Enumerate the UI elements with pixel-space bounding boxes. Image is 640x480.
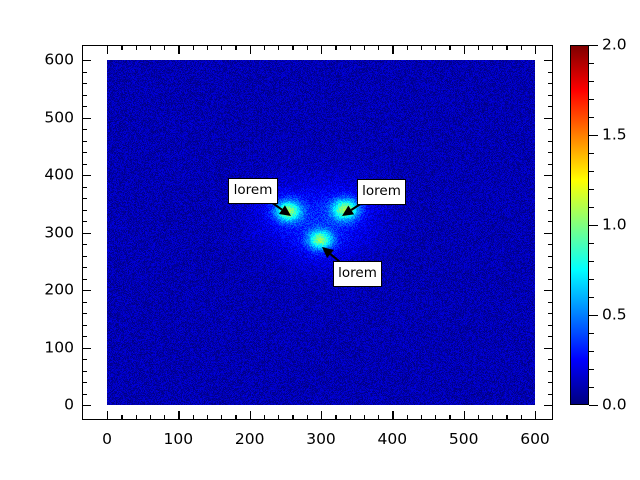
y-axis-minor-tick [548, 72, 553, 73]
x-axis-minor-tick [521, 45, 522, 50]
x-axis-tick-label: 600 [520, 432, 550, 448]
x-axis-minor-tick [478, 45, 479, 50]
y-axis-minor-tick [82, 267, 87, 268]
x-axis-minor-tick [193, 45, 194, 50]
annotation-label-3: lorem [333, 261, 382, 287]
y-axis-minor-tick [82, 210, 87, 211]
y-axis-minor-tick [548, 302, 553, 303]
y-axis-minor-tick [82, 152, 87, 153]
x-axis-major-tick [321, 411, 322, 420]
x-axis-major-tick [178, 45, 179, 54]
x-axis-minor-tick [264, 45, 265, 50]
x-axis-minor-tick [164, 45, 165, 50]
y-axis-minor-tick [548, 279, 553, 280]
x-axis-minor-tick [136, 415, 137, 420]
colorbar-minor-tick [589, 207, 594, 208]
y-axis-minor-tick [548, 106, 553, 107]
colorbar-minor-tick [589, 117, 594, 118]
y-axis-tick-label: 400 [16, 167, 74, 183]
x-axis-major-tick [250, 411, 251, 420]
x-axis-minor-tick [407, 415, 408, 420]
y-axis-minor-tick [548, 325, 553, 326]
colorbar [570, 45, 589, 405]
x-axis-minor-tick [364, 45, 365, 50]
x-axis-minor-tick [207, 45, 208, 50]
x-axis-minor-tick [121, 45, 122, 50]
colorbar-minor-tick [589, 189, 594, 190]
x-axis-minor-tick [506, 45, 507, 50]
y-axis-tick-label: 300 [16, 225, 74, 241]
x-axis-minor-tick [136, 45, 137, 50]
y-axis-minor-tick [82, 371, 87, 372]
x-axis-major-tick [107, 45, 108, 54]
x-axis-tick-label: 500 [449, 432, 479, 448]
x-axis-major-tick [535, 411, 536, 420]
x-axis-minor-tick [164, 415, 165, 420]
colorbar-major-tick [589, 225, 598, 226]
y-axis-minor-tick [82, 141, 87, 142]
colorbar-minor-tick [589, 261, 594, 262]
x-axis-minor-tick [235, 415, 236, 420]
y-axis-minor-tick [548, 83, 553, 84]
x-axis-minor-tick [307, 415, 308, 420]
colorbar-major-tick [589, 45, 598, 46]
x-axis-minor-tick [207, 415, 208, 420]
x-axis-minor-tick [492, 415, 493, 420]
x-axis-minor-tick [235, 45, 236, 50]
x-axis-minor-tick [421, 45, 422, 50]
y-axis-minor-tick [548, 164, 553, 165]
y-axis-minor-tick [82, 129, 87, 130]
y-axis-major-tick [544, 60, 553, 61]
y-axis-minor-tick [82, 198, 87, 199]
x-axis-minor-tick [150, 415, 151, 420]
x-axis-minor-tick [221, 45, 222, 50]
y-axis-minor-tick [82, 72, 87, 73]
y-axis-major-tick [82, 118, 91, 119]
x-axis-tick-label: 400 [378, 432, 408, 448]
colorbar-minor-tick [589, 99, 594, 100]
colorbar-minor-tick [589, 297, 594, 298]
y-axis-minor-tick [82, 187, 87, 188]
y-axis-minor-tick [548, 244, 553, 245]
y-axis-minor-tick [82, 302, 87, 303]
x-axis-minor-tick [335, 415, 336, 420]
y-axis-minor-tick [548, 221, 553, 222]
y-axis-minor-tick [82, 221, 87, 222]
colorbar-major-tick [589, 405, 598, 406]
y-axis-major-tick [82, 60, 91, 61]
x-axis-minor-tick [449, 415, 450, 420]
y-axis-minor-tick [548, 382, 553, 383]
x-axis-minor-tick [521, 415, 522, 420]
x-axis-major-tick [250, 45, 251, 54]
y-axis-minor-tick [82, 313, 87, 314]
y-axis-minor-tick [548, 129, 553, 130]
x-axis-minor-tick [378, 45, 379, 50]
colorbar-tick-label: 0.5 [602, 307, 627, 323]
x-axis-minor-tick [407, 45, 408, 50]
y-axis-minor-tick [548, 336, 553, 337]
y-axis-tick-label: 500 [16, 110, 74, 126]
y-axis-major-tick [544, 233, 553, 234]
colorbar-minor-tick [589, 279, 594, 280]
x-axis-major-tick [464, 411, 465, 420]
x-axis-minor-tick [278, 415, 279, 420]
x-axis-tick-label: 100 [164, 432, 194, 448]
x-axis-minor-tick [221, 415, 222, 420]
colorbar-tick-label: 1.0 [602, 217, 627, 233]
x-axis-tick-label: 200 [235, 432, 265, 448]
x-axis-minor-tick [478, 415, 479, 420]
y-axis-minor-tick [548, 152, 553, 153]
x-axis-tick-label: 300 [306, 432, 336, 448]
y-axis-major-tick [82, 290, 91, 291]
x-axis-minor-tick [506, 415, 507, 420]
colorbar-minor-tick [589, 153, 594, 154]
y-axis-minor-tick [82, 256, 87, 257]
x-axis-minor-tick [350, 415, 351, 420]
y-axis-minor-tick [82, 382, 87, 383]
x-axis-minor-tick [150, 45, 151, 50]
x-axis-major-tick [178, 411, 179, 420]
y-axis-tick-label: 600 [16, 52, 74, 68]
colorbar-major-tick [589, 135, 598, 136]
x-axis-minor-tick [307, 45, 308, 50]
y-axis-major-tick [544, 118, 553, 119]
annotation-label-1: lorem [228, 178, 278, 204]
y-axis-tick-label: 0 [16, 397, 74, 413]
y-axis-major-tick [544, 348, 553, 349]
y-axis-minor-tick [82, 325, 87, 326]
y-axis-minor-tick [82, 394, 87, 395]
figure-canvas: 01002003004005006000100200300400500600 0… [0, 0, 640, 480]
y-axis-tick-label: 100 [16, 340, 74, 356]
x-axis-minor-tick [492, 45, 493, 50]
x-axis-minor-tick [335, 45, 336, 50]
y-axis-minor-tick [548, 141, 553, 142]
y-axis-minor-tick [548, 256, 553, 257]
y-axis-minor-tick [82, 359, 87, 360]
y-axis-major-tick [544, 290, 553, 291]
x-axis-major-tick [321, 45, 322, 54]
y-axis-minor-tick [548, 371, 553, 372]
y-axis-minor-tick [82, 106, 87, 107]
x-axis-major-tick [535, 45, 536, 54]
y-axis-minor-tick [548, 313, 553, 314]
y-axis-minor-tick [82, 83, 87, 84]
y-axis-major-tick [544, 175, 553, 176]
colorbar-tick-label: 1.5 [602, 127, 627, 143]
y-axis-minor-tick [548, 95, 553, 96]
x-axis-tick-label: 0 [102, 432, 112, 448]
y-axis-major-tick [82, 348, 91, 349]
y-axis-major-tick [82, 175, 91, 176]
x-axis-minor-tick [193, 415, 194, 420]
y-axis-major-tick [544, 405, 553, 406]
x-axis-major-tick [464, 45, 465, 54]
colorbar-minor-tick [589, 243, 594, 244]
x-axis-minor-tick [364, 415, 365, 420]
y-axis-minor-tick [548, 210, 553, 211]
y-axis-minor-tick [82, 336, 87, 337]
x-axis-major-tick [392, 45, 393, 54]
x-axis-minor-tick [278, 45, 279, 50]
colorbar-tick-label: 2.0 [602, 37, 627, 53]
colorbar-minor-tick [589, 369, 594, 370]
x-axis-minor-tick [121, 415, 122, 420]
colorbar-minor-tick [589, 63, 594, 64]
y-axis-minor-tick [548, 267, 553, 268]
colorbar-major-tick [589, 315, 598, 316]
colorbar-minor-tick [589, 387, 594, 388]
x-axis-minor-tick [292, 45, 293, 50]
x-axis-minor-tick [264, 415, 265, 420]
x-axis-minor-tick [350, 45, 351, 50]
colorbar-minor-tick [589, 81, 594, 82]
x-axis-minor-tick [435, 415, 436, 420]
colorbar-minor-tick [589, 351, 594, 352]
x-axis-minor-tick [378, 415, 379, 420]
y-axis-minor-tick [82, 279, 87, 280]
y-axis-minor-tick [548, 198, 553, 199]
y-axis-major-tick [82, 405, 91, 406]
y-axis-tick-label: 200 [16, 282, 74, 298]
colorbar-minor-tick [589, 171, 594, 172]
y-axis-minor-tick [548, 359, 553, 360]
y-axis-minor-tick [82, 95, 87, 96]
y-axis-major-tick [82, 233, 91, 234]
heatmap-image [107, 60, 535, 405]
x-axis-minor-tick [435, 45, 436, 50]
y-axis-minor-tick [548, 394, 553, 395]
y-axis-minor-tick [82, 244, 87, 245]
x-axis-minor-tick [292, 415, 293, 420]
colorbar-tick-label: 0.0 [602, 397, 627, 413]
x-axis-minor-tick [421, 415, 422, 420]
x-axis-major-tick [392, 411, 393, 420]
y-axis-minor-tick [82, 164, 87, 165]
y-axis-minor-tick [548, 187, 553, 188]
x-axis-major-tick [107, 411, 108, 420]
annotation-label-2: lorem [357, 179, 406, 205]
x-axis-minor-tick [449, 45, 450, 50]
colorbar-minor-tick [589, 333, 594, 334]
